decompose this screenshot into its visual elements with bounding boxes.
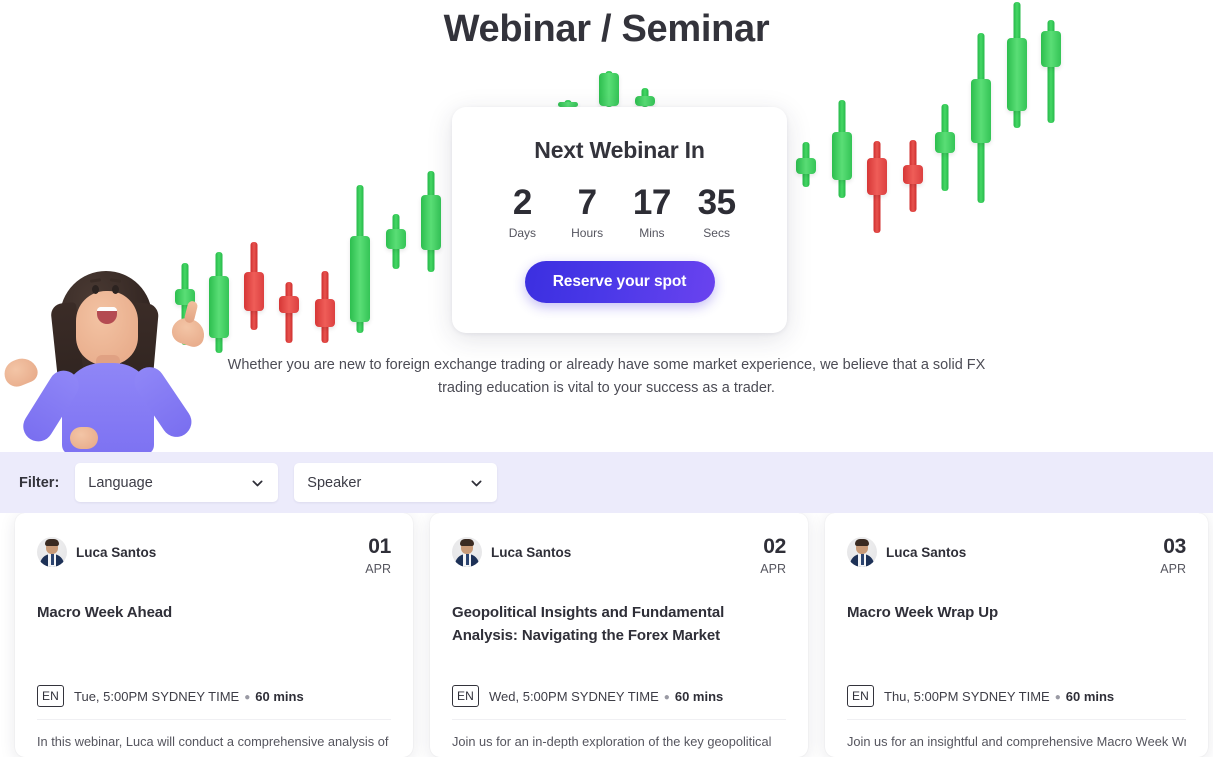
schedule-text: Tue, 5:00PM SYDNEY TIME●60 mins [74, 689, 304, 704]
author-name: Luca Santos [886, 545, 966, 560]
card-header: Luca Santos 03 APR [847, 535, 1186, 577]
avatar [847, 537, 877, 567]
filter-label: Filter: [19, 475, 59, 491]
webinar-card[interactable]: Luca Santos 02 APR Geopolitical Insights… [430, 513, 808, 757]
countdown-unit-mins: 17 Mins [620, 184, 685, 240]
countdown-unit-days: 2 Days [490, 184, 555, 240]
countdown-hours-value: 7 [555, 184, 620, 221]
card-author: Luca Santos [452, 537, 571, 567]
countdown-secs-label: Secs [684, 226, 749, 240]
countdown-mins-value: 17 [620, 184, 685, 221]
webinar-card-list: Luca Santos 01 APR Macro Week Ahead EN T… [0, 513, 1213, 757]
candlestick-15 [903, 140, 923, 212]
webinar-title: Geopolitical Insights and Fundamental An… [452, 601, 786, 648]
webinar-description: Join us for an in-depth exploration of t… [452, 732, 786, 752]
date-day: 03 [1160, 535, 1186, 558]
duration: 60 mins [1066, 689, 1114, 704]
candlestick-12 [796, 142, 816, 187]
speaker-filter-value: Speaker [307, 475, 361, 491]
speaker-filter-select[interactable]: Speaker [294, 463, 497, 502]
countdown-units: 2 Days 7 Hours 17 Mins 35 Secs [452, 184, 787, 240]
countdown-card: Next Webinar In 2 Days 7 Hours 17 Mins 3… [452, 107, 787, 333]
candlestick-16 [935, 104, 955, 191]
webinar-title: Macro Week Ahead [37, 601, 391, 624]
card-author: Luca Santos [847, 537, 966, 567]
countdown-unit-secs: 35 Secs [684, 184, 749, 240]
countdown-days-value: 2 [490, 184, 555, 221]
hero-subtitle: Whether you are new to foreign exchange … [0, 354, 1213, 401]
language-badge: EN [37, 685, 64, 707]
countdown-hours-label: Hours [555, 226, 620, 240]
card-header: Luca Santos 02 APR [452, 535, 786, 577]
webinar-description: In this webinar, Luca will conduct a com… [37, 732, 391, 752]
candlestick-10 [599, 71, 619, 107]
language-filter-value: Language [88, 475, 153, 491]
webinar-card[interactable]: Luca Santos 03 APR Macro Week Wrap Up EN… [825, 513, 1208, 757]
card-date: 01 APR [365, 535, 391, 577]
card-divider [452, 719, 786, 720]
webinar-description: Join us for an insightful and comprehens… [847, 732, 1186, 752]
candlestick-7 [386, 214, 406, 269]
card-date: 03 APR [1160, 535, 1186, 577]
countdown-unit-hours: 7 Hours [555, 184, 620, 240]
language-filter-select[interactable]: Language [75, 463, 278, 502]
avatar [452, 537, 482, 567]
candlestick-6 [350, 185, 370, 333]
countdown-mins-label: Mins [620, 226, 685, 240]
webinar-meta: EN Thu, 5:00PM SYDNEY TIME●60 mins [847, 685, 1186, 707]
countdown-heading: Next Webinar In [452, 137, 787, 164]
candlestick-5 [315, 271, 335, 343]
candlestick-8 [421, 171, 441, 272]
author-name: Luca Santos [491, 545, 571, 560]
card-divider [847, 719, 1186, 720]
duration: 60 mins [675, 689, 723, 704]
language-badge: EN [452, 685, 479, 707]
webinar-seminar-page: Webinar / Seminar Next Webinar In 2 Days… [0, 0, 1213, 757]
chevron-down-icon [471, 478, 482, 489]
author-name: Luca Santos [76, 545, 156, 560]
candlestick-13 [832, 100, 852, 198]
schedule-text: Wed, 5:00PM SYDNEY TIME●60 mins [489, 689, 723, 704]
schedule-time: Thu, 5:00PM SYDNEY TIME [884, 689, 1050, 704]
countdown-secs-value: 35 [684, 184, 749, 221]
card-header: Luca Santos 01 APR [37, 535, 391, 577]
page-title: Webinar / Seminar [0, 8, 1213, 51]
candlestick-11 [635, 88, 655, 107]
card-date: 02 APR [760, 535, 786, 577]
webinar-meta: EN Wed, 5:00PM SYDNEY TIME●60 mins [452, 685, 786, 707]
filter-bar: Filter: Language Speaker [0, 452, 1213, 513]
hero-subtitle-line-2: trading education is vital to your succe… [0, 377, 1213, 400]
duration: 60 mins [255, 689, 303, 704]
chevron-down-icon [252, 478, 263, 489]
avatar [37, 537, 67, 567]
candlestick-14 [867, 141, 887, 233]
card-divider [37, 719, 391, 720]
candlestick-4 [279, 282, 299, 343]
language-badge: EN [847, 685, 874, 707]
reserve-your-spot-button[interactable]: Reserve your spot [525, 261, 715, 303]
countdown-days-label: Days [490, 226, 555, 240]
date-month: APR [1160, 563, 1186, 577]
date-day: 01 [365, 535, 391, 558]
date-day: 02 [760, 535, 786, 558]
webinar-title: Macro Week Wrap Up [847, 601, 1186, 624]
candlestick-17 [971, 33, 991, 203]
candlestick-3 [244, 242, 264, 330]
schedule-time: Tue, 5:00PM SYDNEY TIME [74, 689, 239, 704]
date-month: APR [760, 563, 786, 577]
hero-subtitle-line-1: Whether you are new to foreign exchange … [228, 357, 986, 373]
card-author: Luca Santos [37, 537, 156, 567]
schedule-text: Thu, 5:00PM SYDNEY TIME●60 mins [884, 689, 1114, 704]
webinar-card[interactable]: Luca Santos 01 APR Macro Week Ahead EN T… [15, 513, 413, 757]
schedule-time: Wed, 5:00PM SYDNEY TIME [489, 689, 659, 704]
date-month: APR [365, 563, 391, 577]
webinar-meta: EN Tue, 5:00PM SYDNEY TIME●60 mins [37, 685, 391, 707]
hero-section: Webinar / Seminar Next Webinar In 2 Days… [0, 0, 1213, 452]
